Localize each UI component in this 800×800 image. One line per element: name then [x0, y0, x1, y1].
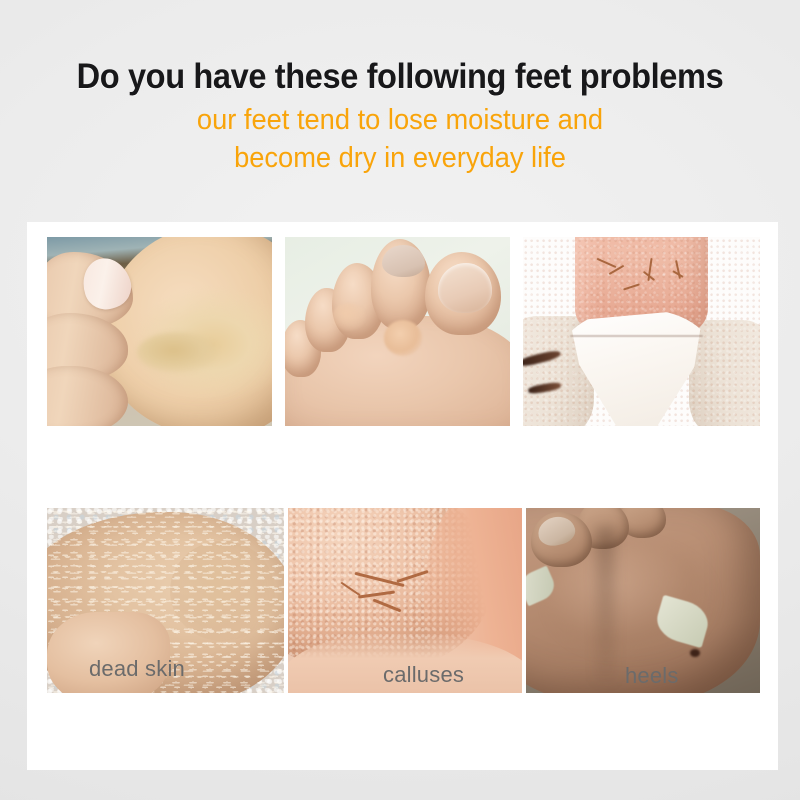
caption-dead-skin: dead skin: [89, 656, 185, 682]
shadow-mark: [596, 527, 615, 682]
photo-calluses: [285, 237, 510, 426]
toenail-shape: [382, 245, 425, 277]
subtitle-line-1: our feet tend to lose moisture and: [24, 101, 776, 139]
subtitle-line-2: become dry in everyday life: [24, 139, 776, 177]
page-subtitle: our feet tend to lose moisture and becom…: [24, 101, 776, 177]
page-title: Do you have these following feet problem…: [28, 57, 772, 97]
promo-banner: Do you have these following feet problem…: [0, 0, 800, 800]
caption-heels: heels: [625, 663, 679, 689]
toenail-shape: [438, 263, 492, 312]
photo-dead-skin: [47, 237, 272, 426]
caption-calluses: calluses: [383, 662, 464, 688]
heel-pad-seam: [570, 335, 703, 337]
callus-spot: [384, 320, 422, 356]
callus-spot: [137, 332, 218, 374]
skin-mark: [690, 649, 700, 657]
photo-heels: [523, 237, 760, 426]
gallery-card: dead skin calluses heels dry and rough h…: [27, 222, 778, 770]
